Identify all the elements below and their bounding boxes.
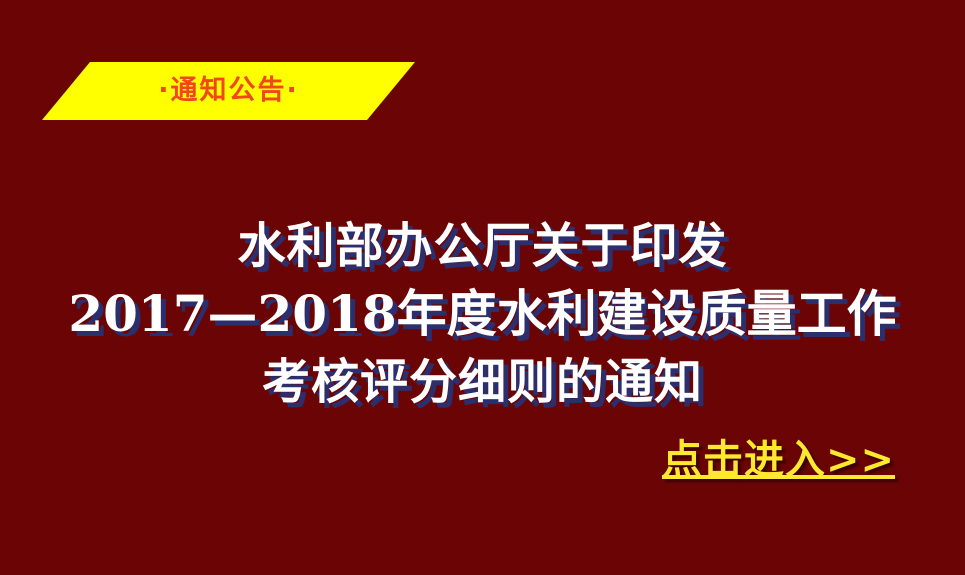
ribbon-label: ·通知公告·	[42, 62, 415, 120]
enter-link[interactable]: 点击进入>>	[662, 434, 895, 486]
page-title: 水利部办公厅关于印发 2017—2018年度水利建设质量工作 考核评分细则的通知	[0, 212, 965, 416]
announcement-poster: ·通知公告· 水利部办公厅关于印发 2017—2018年度水利建设质量工作 考核…	[0, 0, 965, 575]
notice-ribbon-banner: ·通知公告·	[42, 62, 415, 120]
title-line-1: 水利部办公厅关于印发	[0, 212, 965, 280]
title-line-3: 考核评分细则的通知	[0, 348, 965, 416]
title-line-2: 2017—2018年度水利建设质量工作	[0, 280, 965, 348]
